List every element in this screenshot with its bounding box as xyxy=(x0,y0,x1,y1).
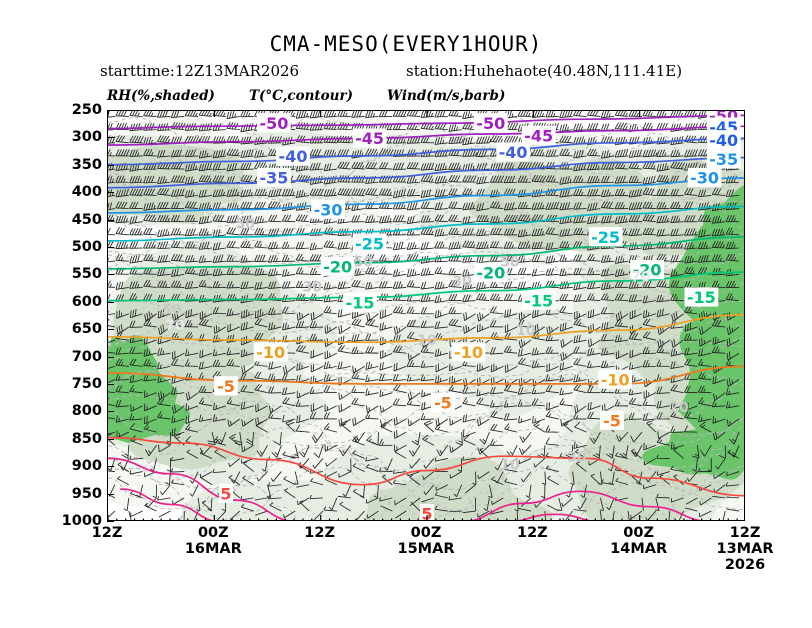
y-axis-tick xyxy=(107,302,114,303)
y-axis-tick-label: 900 xyxy=(72,458,102,474)
y-axis-tick-label: 400 xyxy=(72,184,102,200)
legend-temperature-label: T(°C,contour) xyxy=(249,88,353,104)
x-axis-hour-label: 00Z xyxy=(398,525,455,541)
y-axis-tick xyxy=(107,357,114,358)
x-axis-day-label: 16MAR xyxy=(185,541,242,557)
x-axis-tick-group: 12Z xyxy=(517,525,548,541)
x-axis-day-label: 15MAR xyxy=(398,541,455,557)
x-axis-hour-label: 12Z xyxy=(517,525,548,541)
y-axis-tick-label: 600 xyxy=(72,294,102,310)
x-axis-tick-group: 12Z13MAR2026 xyxy=(717,525,774,573)
x-axis-day-label: 13MAR xyxy=(717,541,774,557)
x-axis-tick-group: 00Z15MAR xyxy=(398,525,455,557)
y-axis-tick-label: 500 xyxy=(72,239,102,255)
plot-canvas: -50-50-50-45-45-45-40-40-40-35-35-30-30-… xyxy=(108,111,745,521)
y-axis-tick xyxy=(107,466,114,467)
x-axis-hour-label: 00Z xyxy=(610,525,667,541)
y-axis-tick xyxy=(107,220,114,221)
x-axis-tick-group: 12Z xyxy=(92,525,123,541)
y-axis-tick xyxy=(107,137,114,138)
y-axis-tick xyxy=(107,411,114,412)
y-axis-tick-label: 850 xyxy=(72,431,102,447)
y-axis-tick xyxy=(107,384,114,385)
y-axis-tick xyxy=(107,274,114,275)
y-axis-tick-label: 250 xyxy=(72,102,102,118)
x-axis-tick-group: 12Z xyxy=(304,525,335,541)
y-axis-tick-label: 450 xyxy=(72,212,102,228)
legend-rh-label: RH(%,shaded) xyxy=(107,88,215,104)
y-axis-tick xyxy=(107,192,114,193)
x-axis-tick-group: 00Z16MAR xyxy=(185,525,242,557)
x-axis: 12Z00Z16MAR12Z00Z15MAR12Z00Z14MAR12Z13MA… xyxy=(107,523,745,603)
y-axis-tick-label: 550 xyxy=(72,266,102,282)
y-axis-tick-label: 750 xyxy=(72,376,102,392)
station-label: station:Huhehaote(40.48N,111.41E) xyxy=(406,62,682,80)
y-axis-tick-label: 300 xyxy=(72,129,102,145)
page-title: CMA-MESO(EVERY1HOUR) xyxy=(0,32,812,56)
y-axis-tick xyxy=(107,110,114,111)
x-axis-day-label: 14MAR xyxy=(610,541,667,557)
x-axis-hour-label: 12Z xyxy=(304,525,335,541)
y-axis-tick-label: 800 xyxy=(72,403,102,419)
plot-area: -50-50-50-45-45-45-40-40-40-35-35-30-30-… xyxy=(107,110,745,521)
y-axis-tick-label: 950 xyxy=(72,486,102,502)
starttime-label: starttime:12Z13MAR2026 xyxy=(100,62,299,80)
x-axis-hour-label: 12Z xyxy=(717,525,774,541)
y-axis-tick xyxy=(107,439,114,440)
legend: RH(%,shaded) T(°C,contour) Wind(m/s,barb… xyxy=(107,88,747,108)
y-axis-tick xyxy=(107,165,114,166)
x-axis-hour-label: 00Z xyxy=(185,525,242,541)
y-axis-tick xyxy=(107,521,114,522)
y-axis-tick-label: 350 xyxy=(72,157,102,173)
y-axis: 2503003504004505005506006507007508008509… xyxy=(44,110,102,521)
y-axis-tick xyxy=(107,494,114,495)
y-axis-tick-label: 700 xyxy=(72,349,102,365)
y-axis-tick-label: 650 xyxy=(72,321,102,337)
x-axis-hour-label: 12Z xyxy=(92,525,123,541)
y-axis-tick xyxy=(107,247,114,248)
x-axis-year-label: 2026 xyxy=(717,557,774,573)
x-axis-tick-group: 00Z14MAR xyxy=(610,525,667,557)
y-axis-tick xyxy=(107,329,114,330)
legend-wind-label: Wind(m/s,barb) xyxy=(387,88,505,104)
